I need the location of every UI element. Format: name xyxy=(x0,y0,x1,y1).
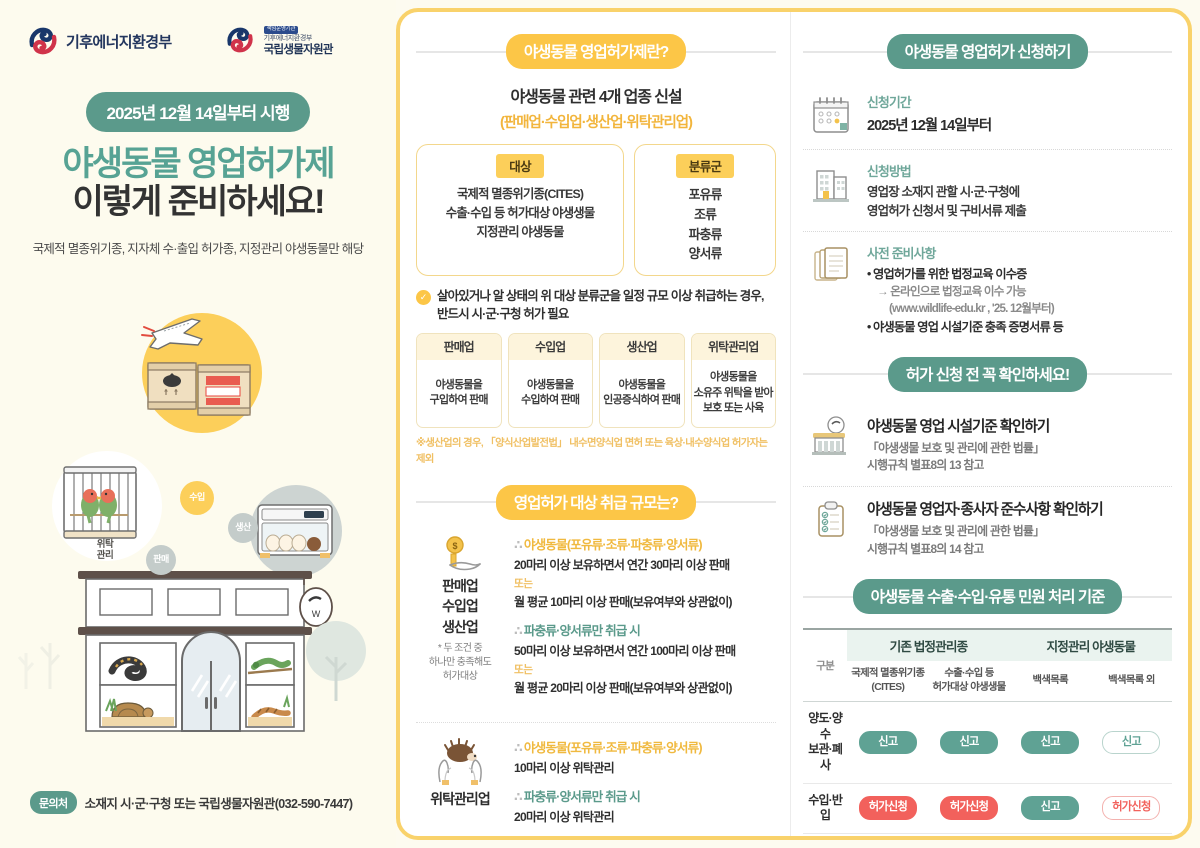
birdcage-icon xyxy=(64,467,136,538)
business-type-name: 판매업 xyxy=(417,334,501,360)
therefore-icon: ∴ xyxy=(514,741,522,755)
scale-sell-b2-line1: 50마리 이상 보유하면서 연간 100마리 이상 판매 xyxy=(514,644,735,658)
section-apply-title: 야생동물 영업허가 신청하기 xyxy=(887,34,1089,69)
permit-required-note: ✓ 살아있거나 알 상태의 위 대상 분류군을 일정 규모 이상 취급하는 경우… xyxy=(416,288,776,324)
sh0-l2: (CITES) xyxy=(871,682,904,693)
rule-left xyxy=(803,51,887,53)
scale-sell-body-2: 50마리 이상 보유하면서 연간 100마리 이상 판매 또는 월 평균 20마… xyxy=(514,642,776,697)
table-row: 수입·반입 허가신청 허가신청 신고 허가신청 xyxy=(803,783,1172,833)
scale-trust-head-2-text: 파충류·양서류만 취급 시 xyxy=(524,790,640,804)
table-row: 양도·양수보관·폐사 신고 신고 신고 신고 xyxy=(803,702,1172,783)
clipboard-check-icon xyxy=(807,498,855,544)
prep-bullet-1-sub1: → 온라인으로 법정교육 이수 가능 xyxy=(867,283,1170,300)
permit-required-text: 살아있거나 알 상태의 위 대상 분류군을 일정 규모 이상 취급하는 경우, … xyxy=(437,288,776,324)
label-trust-l1: 위탁 xyxy=(97,539,113,550)
status-badge: 허가신청 xyxy=(1102,796,1160,819)
taxon-group-box: 분류군 포유류 조류 파충류 양서류 xyxy=(634,144,776,276)
section-table-title: 야생동물 수출·수입·유통 민원 처리 기준 xyxy=(853,579,1123,614)
scale-sell-head-1-text: 야생동물(포유류·조류·파충류·양서류) xyxy=(524,538,702,552)
middle-column: 야생동물 영업허가제란? 야생동물 관련 4개 업종 신설 (판매업·수입업·생… xyxy=(400,12,790,836)
table-cell: 신고 xyxy=(928,702,1009,783)
new-business-title: 야생동물 관련 4개 업종 신설 xyxy=(416,83,776,107)
table-body: 양도·양수보관·폐사 신고 신고 신고 신고 수입·반입 허가신청 허가신청 신… xyxy=(803,702,1172,840)
infographic-page: 기후에너지환경부 책임운영기관 기후에너지환경부 국립생물자원관 2025년 1… xyxy=(0,0,1200,848)
scale-sell-body-1: 20마리 이상 보유하면서 연간 30마리 이상 판매 또는 월 평균 10마리… xyxy=(514,556,776,611)
table-row-label: 수입·반입 xyxy=(803,783,847,833)
apply-prep-body: 사전 준비사항 • 영업허가를 위한 법정교육 이수증 → 온라인으로 법정교육… xyxy=(867,243,1170,335)
taxon-line-4: 양서류 xyxy=(641,244,769,264)
ministry-logo-text: 기후에너지환경부 xyxy=(66,31,172,52)
table-group-header-2: 지정관리 야생동물 xyxy=(1010,629,1172,662)
table-corner-label: 구분 xyxy=(803,629,847,701)
apply-period-item: 신청기간 2025년 12월 14일부터 xyxy=(803,83,1172,147)
section-scale: 영업허가 대상 취급 규모는? $ xyxy=(416,485,776,835)
agency-logo: 책임운영기관 기후에너지환경부 국립생물자원관 xyxy=(226,26,333,56)
scale-sell-b2-line2: 월 평균 20마리 이상 판매(보유여부와 상관없이) xyxy=(514,681,732,695)
business-type-card: 위탁관리업 야생동물을소유주 위탁을 받아보호 또는 사육 xyxy=(691,333,777,428)
scale-sell-head-2-text: 파충류·양서류만 취급 시 xyxy=(524,624,640,638)
scale-sell-note: * 두 조건 중 하나만 충족해도 허가대상 xyxy=(416,642,504,684)
scale-sell-b1-line2: 월 평균 10마리 이상 판매(보유여부와 상관없이) xyxy=(514,595,732,609)
apply-divider-1 xyxy=(803,149,1172,150)
table-sub-header-4: 백색목록 외 xyxy=(1091,662,1172,702)
status-badge: 신고 xyxy=(1102,731,1160,754)
sh1-l2: 허가대상 야생생물 xyxy=(932,682,1005,693)
check-icon: ✓ xyxy=(416,290,431,305)
bt0-l1: 야생동물을 xyxy=(435,379,482,391)
prep-bullet-1-sub2: (www.wildlife-edu.kr , '25. 12월부터) xyxy=(867,300,1170,317)
logo-bar: 기후에너지환경부 책임운영기관 기후에너지환경부 국립생물자원관 xyxy=(0,0,396,56)
status-badge: 신고 xyxy=(859,731,917,754)
effective-date-pill: 2025년 12월 14일부터 시행 xyxy=(86,92,309,132)
business-type-desc: 야생동물을수입하여 판매 xyxy=(509,360,593,427)
section-scale-title: 영업허가 대상 취급 규모는? xyxy=(496,485,696,520)
svg-text:W: W xyxy=(312,609,321,619)
scale-sell-title-1: 판매업 xyxy=(416,576,504,596)
table-sub-header-1: 국제적 멸종위기종(CITES) xyxy=(847,662,928,702)
section-heading-apply: 야생동물 영업허가 신청하기 xyxy=(803,34,1172,69)
target-box-tag: 대상 xyxy=(496,154,544,178)
scale-group-sell: $ 판매업 수입업 생산업 * 두 조건 중 하나만 충족해도 xyxy=(416,534,776,706)
new-business-subtitle: (판매업·수입업·생산업·위탁관리업) xyxy=(416,111,776,132)
rule-right xyxy=(1088,51,1172,53)
agency-badge: 책임운영기관 xyxy=(264,26,299,34)
target-line-2: 수출·수입 등 허가대상 야생생물 xyxy=(423,204,617,223)
scale-note-l1: * 두 조건 중 xyxy=(438,643,482,654)
therefore-icon: ∴ xyxy=(514,538,522,552)
illustration: W 수입 생산 판매 위탁 xyxy=(0,263,396,733)
bt3-l1: 야생동물을 xyxy=(710,371,757,383)
apply-period-label: 신청기간 xyxy=(867,92,1170,111)
section-what-title: 야생동물 영업허가제란? xyxy=(506,34,686,69)
page-subtitle: 국제적 멸종위기종, 지자체 수·출입 허가종, 지정관리 야생동물만 해당 xyxy=(0,238,396,257)
apply-prep-bullets: • 영업허가를 위한 법정교육 이수증 → 온라인으로 법정교육 이수 가능 (… xyxy=(867,265,1170,335)
table-cell: 신고 xyxy=(1010,783,1091,833)
check-divider xyxy=(803,486,1172,487)
svg-text:$: $ xyxy=(452,541,457,551)
therefore-icon: ∴ xyxy=(514,790,522,804)
table-cell: 신고 xyxy=(1010,702,1091,783)
status-badge: 신고 xyxy=(1021,796,1079,819)
status-badge: 허가신청 xyxy=(859,796,917,819)
business-type-card: 생산업 야생동물을인공증식하여 판매 xyxy=(599,333,685,428)
pet-shop-icon: W xyxy=(19,571,366,731)
scale-sell-head-2: ∴파충류·양서류만 취급 시 xyxy=(514,620,776,639)
check-facility-item: 야생동물 영업 시설기준 확인하기 「야생생물 보호 및 관리에 관한 법률」 … xyxy=(803,406,1172,484)
scale-group-sell-right: ∴야생동물(포유류·조류·파충류·양서류) 20마리 이상 보유하면서 연간 3… xyxy=(514,534,776,706)
target-line-3: 지정관리 야생동물 xyxy=(423,223,617,242)
table-sub-header-3: 백색목록 xyxy=(1010,662,1091,702)
table-cell: 허가신청 xyxy=(1091,783,1172,833)
table-cell: 신고 xyxy=(1010,833,1091,840)
check-compliance-sub1: 「야생생물 보호 및 관리에 관한 법률」 xyxy=(867,523,1170,541)
check-compliance-sub2: 시행규칙 별표8의 14 참고 xyxy=(867,541,1170,559)
shop-icon xyxy=(807,415,855,461)
table-cell: 허가신청 xyxy=(847,833,928,840)
check-facility-sub2: 시행규칙 별표8의 13 참고 xyxy=(867,457,1170,475)
page-title-line2: 이렇게 준비하세요! xyxy=(0,183,396,221)
apply-prep-label: 사전 준비사항 xyxy=(867,243,1170,262)
incubator-icon xyxy=(258,505,332,558)
table-cell: 허가신청 xyxy=(847,783,928,833)
right-column: 야생동물 영업허가 신청하기 xyxy=(790,12,1188,836)
sh1-l1: 수출·수입 등 xyxy=(944,668,993,679)
contact-text: 소재지 시·군·구청 또는 국립생물자원관(032-590-7447) xyxy=(85,793,353,812)
bt0-l2: 구입하여 판매 xyxy=(430,394,488,406)
table-sub-header-2: 수출·수입 등허가대상 야생생물 xyxy=(928,662,1009,702)
scale-trust-head-2: ∴파충류·양서류만 취급 시 xyxy=(514,786,776,805)
bt2-l2: 인공증식하여 판매 xyxy=(603,394,680,406)
page-title-line1: 야생동물 영업허가제 xyxy=(0,145,396,183)
scale-trust-title: 위탁관리업 xyxy=(416,789,504,809)
table-row-label: 양도·양수보관·폐사 xyxy=(803,702,847,783)
building-icon xyxy=(807,161,855,207)
rule-right xyxy=(696,501,776,503)
bt1-l2: 수입하여 판매 xyxy=(521,394,579,406)
table-group-header-1: 기존 법정관리종 xyxy=(847,629,1009,662)
rule-left xyxy=(416,51,506,53)
business-type-desc: 야생동물을인공증식하여 판매 xyxy=(600,360,684,427)
scale-trust-body-2: 20마리 이상 위탁관리 xyxy=(514,808,776,826)
shipping-crate-fragile-icon xyxy=(198,365,250,415)
calendar-icon xyxy=(807,92,855,138)
scale-trust-head-1-text: 야생동물(포유류·조류·파충류·양서류) xyxy=(524,741,702,755)
scale-note-l2: 하나만 충족해도 xyxy=(429,657,491,668)
target-box: 대상 국제적 멸종위기종(CITES) 수출·수입 등 허가대상 야생생물 지정… xyxy=(416,144,624,276)
hands-hedgehog-icon xyxy=(416,737,504,789)
rule-left xyxy=(803,373,888,375)
left-panel: 기후에너지환경부 책임운영기관 기후에너지환경부 국립생물자원관 2025년 1… xyxy=(0,0,396,848)
business-type-row: 판매업 야생동물을구입하여 판매 수입업 야생동물을수입하여 판매 생산업 야생… xyxy=(416,333,776,428)
check-facility-title: 야생동물 영업 시설기준 확인하기 xyxy=(867,415,1170,436)
aquaculture-footnote: ※생산업의 경우, 「양식산업발전법」 내수면양식업 면허 또는 육상·내수양식… xyxy=(416,436,776,467)
agency-name: 국립생물자원관 xyxy=(264,44,333,56)
chip-import: 수입 xyxy=(180,481,214,515)
apply-method-label: 신청방법 xyxy=(867,161,1170,180)
scale-group-trust: 위탁관리업 ∴야생동물(포유류·조류·파충류·양서류) 10마리 이상 위탁관리… xyxy=(416,737,776,835)
status-badge: 신고 xyxy=(1021,731,1079,754)
business-type-desc: 야생동물을소유주 위탁을 받아보호 또는 사육 xyxy=(692,360,776,427)
scale-group-sell-left: $ 판매업 수입업 생산업 * 두 조건 중 하나만 충족해도 xyxy=(416,534,504,684)
table-cell: 허가신청 xyxy=(928,833,1009,840)
table-cell: 신고 xyxy=(1091,702,1172,783)
scale-trust-head-1: ∴야생동물(포유류·조류·파충류·양서류) xyxy=(514,737,776,756)
therefore-icon: ∴ xyxy=(514,624,522,638)
rule-left xyxy=(416,501,496,503)
r0-l1: 양도·양수 xyxy=(808,711,842,741)
target-line-1: 국제적 멸종위기종(CITES) xyxy=(423,185,617,204)
scale-sell-b2-or: 또는 xyxy=(514,664,533,676)
chip-produce: 생산 xyxy=(228,513,258,543)
section-check-title: 허가 신청 전 꼭 확인하세요! xyxy=(888,357,1087,392)
scale-sell-title-2: 수입업 xyxy=(416,596,504,616)
scale-divider xyxy=(416,722,776,723)
processing-standards-table: 구분 기존 법정관리종 지정관리 야생동물 국제적 멸종위기종(CITES) 수… xyxy=(803,628,1172,840)
scale-sell-title-3: 생산업 xyxy=(416,617,504,637)
apply-divider-2 xyxy=(803,231,1172,232)
documents-icon xyxy=(807,243,855,289)
prep-bullet-1: • 영업허가를 위한 법정교육 이수증 xyxy=(867,265,1170,283)
rule-right xyxy=(686,51,776,53)
taxon-line-2: 조류 xyxy=(641,205,769,225)
rule-left xyxy=(803,596,853,598)
rule-right xyxy=(1122,596,1172,598)
agency-logo-text: 책임운영기관 기후에너지환경부 국립생물자원관 xyxy=(264,26,333,55)
airplane-icon xyxy=(142,319,202,349)
label-trust-l2: 관리 xyxy=(97,550,113,561)
contact-block: 문의처 소재지 시·군·구청 또는 국립생물자원관(032-590-7447) xyxy=(30,791,352,814)
table-head: 구분 기존 법정관리종 지정관리 야생동물 국제적 멸종위기종(CITES) 수… xyxy=(803,629,1172,701)
taxon-line-3: 파충류 xyxy=(641,225,769,245)
apply-period-body: 신청기간 2025년 12월 14일부터 xyxy=(867,92,1170,135)
section-heading-what: 야생동물 영업허가제란? xyxy=(416,34,776,69)
check-compliance-body: 야생동물 영업자·종사자 준수사항 확인하기 「야생생물 보호 및 관리에 관한… xyxy=(867,498,1170,558)
table-cell: 신고 xyxy=(847,702,928,783)
scale-note-l3: 허가대상 xyxy=(443,671,477,682)
apply-period-value: 2025년 12월 14일부터 xyxy=(867,114,1170,135)
business-type-desc: 야생동물을구입하여 판매 xyxy=(417,360,501,427)
rule-right xyxy=(1087,373,1172,375)
target-group-boxes: 대상 국제적 멸종위기종(CITES) 수출·수입 등 허가대상 야생생물 지정… xyxy=(416,144,776,276)
table-row-label: 수출·반출 xyxy=(803,833,847,840)
bt1-l1: 야생동물을 xyxy=(527,379,574,391)
status-badge: 신고 xyxy=(940,731,998,754)
business-type-card: 판매업 야생동물을구입하여 판매 xyxy=(416,333,502,428)
r0-l2: 보관·폐사 xyxy=(808,742,842,772)
table-sub-header-row: 국제적 멸종위기종(CITES) 수출·수입 등허가대상 야생생물 백색목록 백… xyxy=(803,662,1172,702)
prep-bullet-2: • 야생동물 영업 시설기준 충족 증명서류 등 xyxy=(867,318,1170,336)
scale-trust-body-1: 10마리 이상 위탁관리 xyxy=(514,759,776,777)
taxon-box-tag: 분류군 xyxy=(676,154,734,178)
chip-sell: 판매 xyxy=(146,545,176,575)
content-card: 야생동물 영업허가제란? 야생동물 관련 4개 업종 신설 (판매업·수입업·생… xyxy=(396,8,1192,840)
taegeuk-icon-2 xyxy=(226,26,256,56)
section-heading-check: 허가 신청 전 꼭 확인하세요! xyxy=(803,357,1172,392)
money-hand-icon: $ xyxy=(416,534,504,576)
shipping-crate-icon xyxy=(148,363,196,409)
apply-method-line1: 영업장 소재지 관할 시·군·구청에 xyxy=(867,183,1170,202)
agency-parent: 기후에너지환경부 xyxy=(264,35,333,42)
scale-sell-head-1: ∴야생동물(포유류·조류·파충류·양서류) xyxy=(514,534,776,553)
bt3-l2: 소유주 위탁을 받아 xyxy=(694,387,773,399)
hero-block: 2025년 12월 14일부터 시행 야생동물 영업허가제 이렇게 준비하세요!… xyxy=(0,92,396,257)
apply-method-body: 신청방법 영업장 소재지 관할 시·군·구청에 영업허가 신청서 및 구비서류 … xyxy=(867,161,1170,220)
apply-prep-item: 사전 준비사항 • 영업허가를 위한 법정교육 이수증 → 온라인으로 법정교육… xyxy=(803,234,1172,344)
scale-sell-b1-or: 또는 xyxy=(514,578,533,590)
business-type-name: 수입업 xyxy=(509,334,593,360)
table-group-header-row: 구분 기존 법정관리종 지정관리 야생동물 xyxy=(803,629,1172,662)
check-facility-body: 야생동물 영업 시설기준 확인하기 「야생생물 보호 및 관리에 관한 법률」 … xyxy=(867,415,1170,475)
check-compliance-item: 야생동물 영업자·종사자 준수사항 확인하기 「야생생물 보호 및 관리에 관한… xyxy=(803,489,1172,567)
section-heading-scale: 영업허가 대상 취급 규모는? xyxy=(416,485,776,520)
apply-method-line2: 영업허가 신청서 및 구비서류 제출 xyxy=(867,202,1170,221)
scale-sell-b1-line1: 20마리 이상 보유하면서 연간 30마리 이상 판매 xyxy=(514,558,729,572)
sh0-l1: 국제적 멸종위기종 xyxy=(851,668,924,679)
section-heading-table: 야생동물 수출·수입·유통 민원 처리 기준 xyxy=(803,579,1172,614)
scale-group-trust-right: ∴야생동물(포유류·조류·파충류·양서류) 10마리 이상 위탁관리 ∴파충류·… xyxy=(514,737,776,835)
business-type-card: 수입업 야생동물을수입하여 판매 xyxy=(508,333,594,428)
check-compliance-title: 야생동물 영업자·종사자 준수사항 확인하기 xyxy=(867,498,1170,519)
scale-group-trust-left: 위탁관리업 xyxy=(416,737,504,809)
bt2-l1: 야생동물을 xyxy=(618,379,665,391)
label-trust-management: 위탁 관리 xyxy=(80,539,130,562)
status-badge: 허가신청 xyxy=(940,796,998,819)
table-cell: 신고 xyxy=(1091,833,1172,840)
business-type-name: 위탁관리업 xyxy=(692,334,776,360)
ministry-logo: 기후에너지환경부 xyxy=(28,26,172,56)
taegeuk-icon xyxy=(28,26,58,56)
apply-method-item: 신청방법 영업장 소재지 관할 시·군·구청에 영업허가 신청서 및 구비서류 … xyxy=(803,152,1172,229)
check-facility-sub1: 「야생생물 보호 및 관리에 관한 법률」 xyxy=(867,440,1170,458)
taxon-line-1: 포유류 xyxy=(641,185,769,205)
table-row: 수출·반출 허가신청 허가신청 신고 신고 xyxy=(803,833,1172,840)
business-type-name: 생산업 xyxy=(600,334,684,360)
contact-badge: 문의처 xyxy=(30,791,77,814)
table-cell: 허가신청 xyxy=(928,783,1009,833)
bt3-l3: 보호 또는 사육 xyxy=(703,402,764,414)
